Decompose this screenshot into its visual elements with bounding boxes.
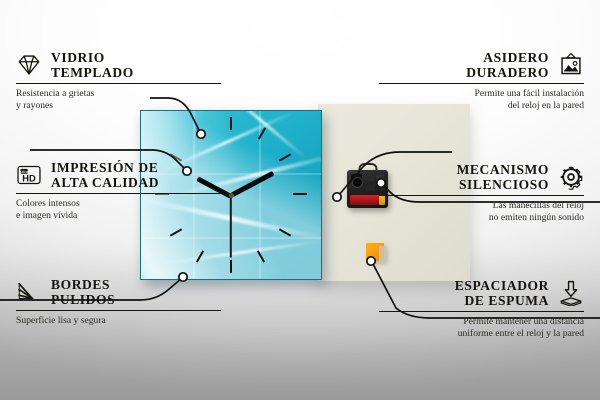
callout-header: MECANISMO SILENCIOSO [379,162,584,192]
callout-title: IMPRESIÓN DE ALTA CALIDAD [51,160,159,190]
callout-vidrio-templado[interactable]: VIDRIO TEMPLADO Resistencia a grietas y … [16,50,221,111]
callout-subtitle: Permite una fácil instalación [379,88,584,100]
callout-subtitle: Superficie lisa y segura [16,315,221,327]
foam-spacer [366,243,384,261]
ultra-hd-icon: ultra HD [16,162,42,188]
clock-tick-6 [230,260,232,273]
diamond-icon [16,52,42,78]
callout-header: BORDES PULIDOS [16,277,221,307]
movement-detail [366,185,375,191]
callout-subtitle: Resistencia a grietas [16,88,221,100]
infographic-stage: VIDRIO TEMPLADO Resistencia a grietas y … [0,0,600,400]
callout-subtitle: Colores intensos [16,198,221,210]
movement-shaft [353,178,362,187]
callout-title: ESPACIADOR DE ESPUMA [455,278,549,308]
clock-center-hub [229,193,234,198]
gear-icon [558,164,584,190]
callout-bordes-pulidos[interactable]: BORDES PULIDOS Superficie lisa y segura [16,277,221,327]
callout-subtitle: uniforme entre el reloj y la pared [379,328,584,340]
callout-title: ASIDERO DURADERO [466,50,549,80]
callout-espaciador-de-espuma[interactable]: ESPACIADOR DE ESPUMA Permite mantener un… [379,278,584,339]
callout-subtitle: del reloj en la pared [379,100,584,112]
callout-header: ESPACIADOR DE ESPUMA [379,278,584,308]
callout-title: BORDES PULIDOS [51,277,115,307]
callout-divider [16,83,221,84]
clock-tick-12 [230,117,232,130]
callout-title: MECANISMO SILENCIOSO [457,162,549,192]
clock-second-hand [230,196,232,258]
clock-tick-3 [293,193,307,195]
callout-divider [379,311,584,312]
svg-text:HD: HD [22,174,36,184]
callout-subtitle: no emiten ningún sonido [379,212,584,224]
callout-divider [16,310,221,311]
callout-subtitle: Las manecillas del reloj [379,200,584,212]
callout-divider [16,193,221,194]
callout-title: VIDRIO TEMPLADO [51,50,134,80]
callout-header: VIDRIO TEMPLADO [16,50,221,80]
callout-mecanismo-silencioso[interactable]: MECANISMO SILENCIOSO Las manecillas del … [379,162,584,223]
picture-hanger-icon [558,52,584,78]
clock-tick-2 [279,153,291,161]
callout-divider [379,195,584,196]
polished-edges-icon [16,279,42,305]
callout-header: ultra HD IMPRESIÓN DE ALTA CALIDAD [16,160,221,190]
callout-divider [379,83,584,84]
down-arrow-pad-icon [558,280,584,306]
callout-subtitle: y rayones [16,100,221,112]
callout-asidero-duradero[interactable]: ASIDERO DURADERO Permite una fácil insta… [379,50,584,111]
movement-detail [366,174,374,181]
callout-subtitle: Permite mantener una distancia [379,316,584,328]
callout-subtitle: e imagen vívida [16,210,221,222]
callout-impresion-alta-calidad[interactable]: ultra HD IMPRESIÓN DE ALTA CALIDAD Color… [16,160,221,221]
callout-header: ASIDERO DURADERO [379,50,584,80]
